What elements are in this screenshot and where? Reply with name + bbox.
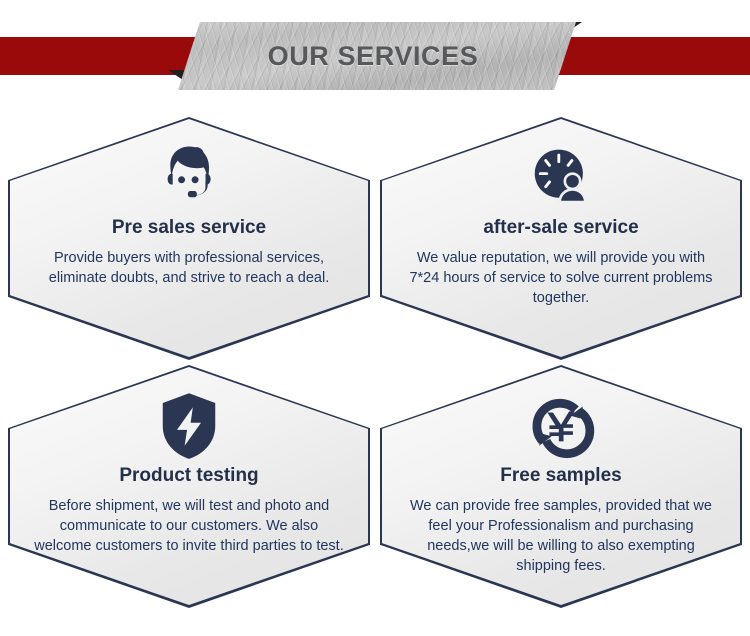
card-title: Pre sales service bbox=[112, 217, 266, 239]
card-description: Before shipment, we will test and photo … bbox=[34, 496, 344, 556]
shield-bolt-icon bbox=[158, 389, 220, 463]
header-banner: OUR SERVICES bbox=[0, 0, 750, 100]
card-title: Free samples bbox=[500, 465, 621, 487]
headset-agent-icon bbox=[153, 141, 225, 215]
service-card-free-samples[interactable]: Free samples We can provide free samples… bbox=[380, 365, 742, 608]
yen-circle-icon bbox=[526, 389, 596, 463]
services-grid: Pre sales service Provide buyers with pr… bbox=[0, 113, 750, 613]
card-description: We can provide free samples, provided th… bbox=[406, 496, 716, 576]
card-description: Provide buyers with professional service… bbox=[44, 248, 334, 288]
card-description: We value reputation, we will provide you… bbox=[406, 248, 716, 308]
service-card-after-sale[interactable]: after-sale service We value reputation, … bbox=[380, 117, 742, 360]
service-card-pre-sales[interactable]: Pre sales service Provide buyers with pr… bbox=[8, 117, 370, 360]
service-card-product-testing[interactable]: Product testing Before shipment, we will… bbox=[8, 365, 370, 608]
page-title: OUR SERVICES bbox=[268, 41, 479, 72]
metal-title-plate: OUR SERVICES bbox=[178, 22, 576, 90]
card-title: Product testing bbox=[119, 465, 258, 487]
card-title: after-sale service bbox=[483, 217, 638, 239]
clock-support-person-icon bbox=[526, 141, 596, 215]
